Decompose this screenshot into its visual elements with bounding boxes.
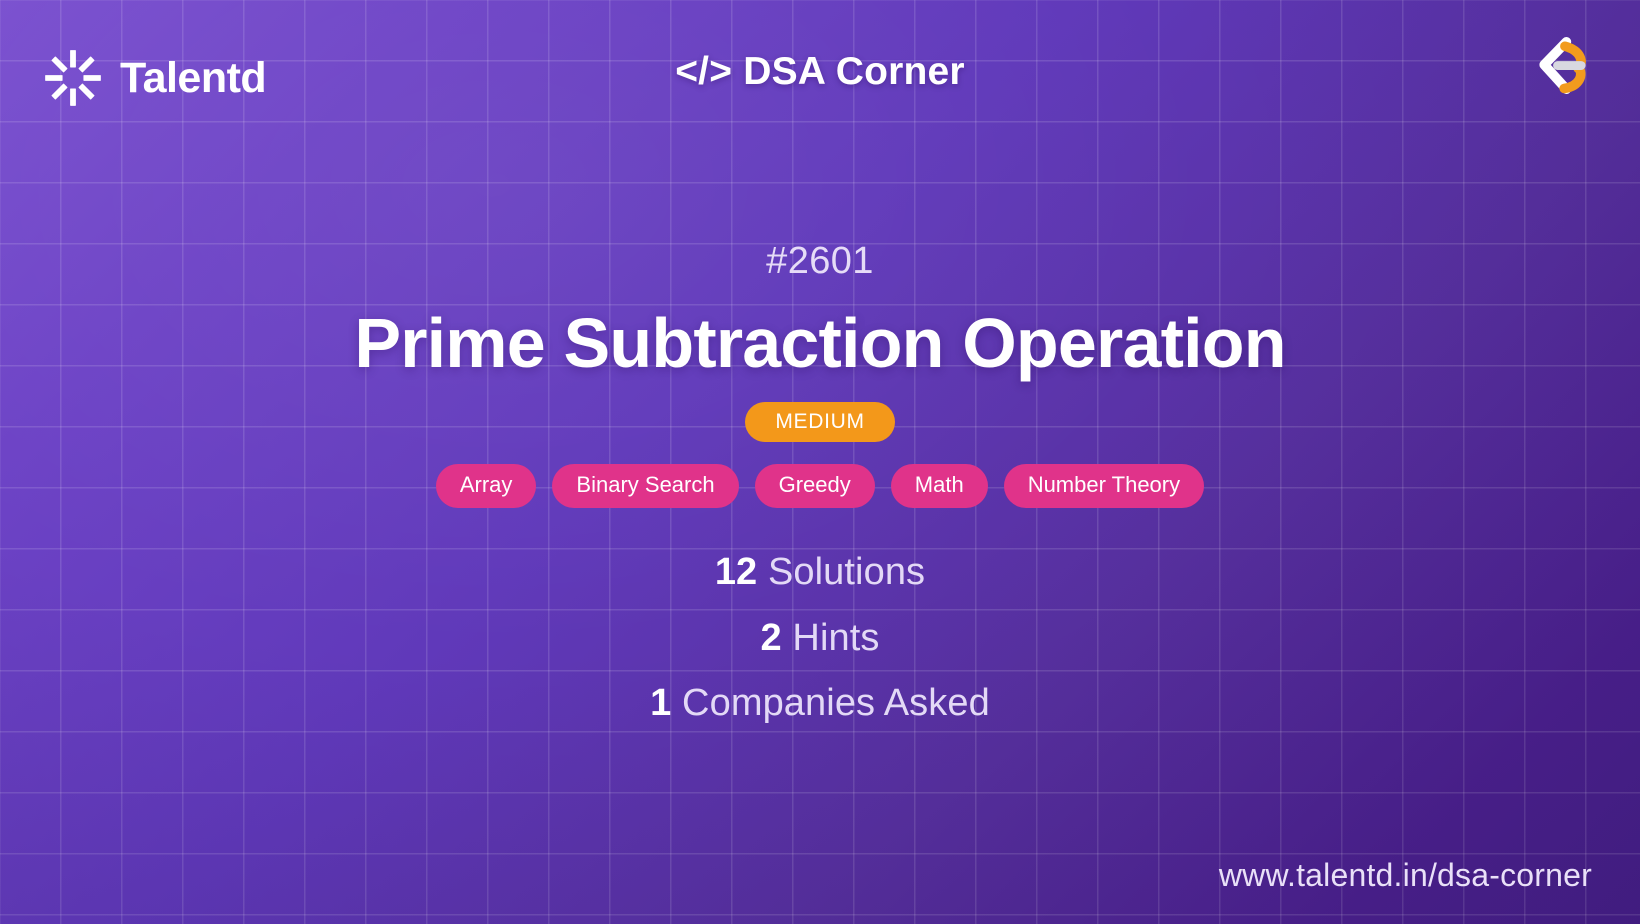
main-content: #2601 Prime Subtraction Operation MEDIUM… <box>0 180 1640 728</box>
stat-hints: 2 Hints <box>761 614 880 663</box>
stat-label: Companies Asked <box>671 682 989 724</box>
stat-label: Hints <box>782 617 880 659</box>
tag-chip[interactable]: Array <box>436 464 537 508</box>
stat-count: 12 <box>715 551 757 593</box>
stat-solutions: 12 Solutions <box>715 548 925 597</box>
tag-list: Array Binary Search Greedy Math Number T… <box>436 464 1204 508</box>
dsa-corner-problem-card: Talentd </> DSA Corner #2601 Prime Subtr… <box>0 0 1640 924</box>
stat-label: Solutions <box>757 551 925 593</box>
header-bar: Talentd </> DSA Corner <box>0 0 1640 156</box>
tag-chip[interactable]: Binary Search <box>552 464 738 508</box>
page-title: </> DSA Corner <box>0 50 1640 94</box>
tag-chip[interactable]: Greedy <box>755 464 875 508</box>
tag-chip[interactable]: Number Theory <box>1004 464 1204 508</box>
stat-companies-asked: 1 Companies Asked <box>650 679 990 728</box>
stat-count: 2 <box>761 617 782 659</box>
problem-title: Prime Subtraction Operation <box>314 306 1325 380</box>
stat-count: 1 <box>650 682 671 724</box>
footer-url[interactable]: www.talentd.in/dsa-corner <box>1219 857 1592 894</box>
tag-chip[interactable]: Math <box>891 464 988 508</box>
leetcode-logo-icon <box>1522 30 1596 104</box>
difficulty-badge: MEDIUM <box>745 402 894 442</box>
problem-number: #2601 <box>766 242 874 280</box>
stats-list: 12 Solutions 2 Hints 1 Companies Asked <box>650 548 990 728</box>
